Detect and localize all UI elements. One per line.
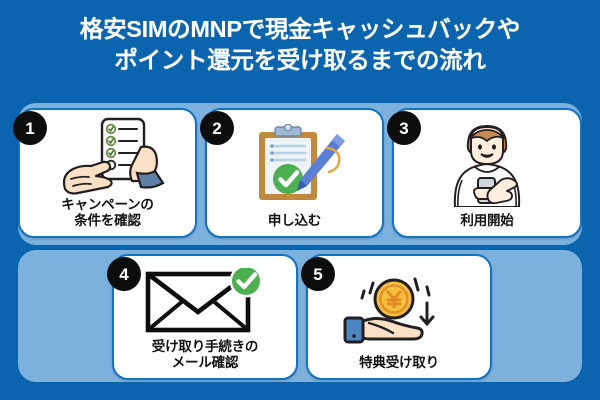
page-title-line-1: 格安SIMのMNPで現金キャッシュバックや: [0, 14, 600, 45]
step-card-1-label-line-2: 条件を確認: [61, 213, 153, 229]
step-card-1-label: キャンペーンの 条件を確認: [61, 197, 153, 229]
person-using-smartphone-icon: [394, 110, 580, 213]
step-badge-5: 5: [301, 257, 335, 291]
step-card-2-label-line-1: 申し込む: [268, 213, 321, 228]
step-card-5-label-line-1: 特典受け取り: [359, 355, 439, 370]
step-card-4-label: 受け取り手続きの メール確認: [152, 339, 258, 371]
step-card-3-label: 利用開始: [460, 213, 513, 229]
bottom-row-panel: [18, 250, 582, 382]
step-card-1-label-line-1: キャンペーンの: [61, 197, 153, 212]
step-card-2-label: 申し込む: [268, 213, 321, 229]
step-badge-2: 2: [200, 111, 234, 145]
step-card-5-label: 特典受け取り: [359, 355, 439, 371]
page-title-line-2: ポイント還元を受け取るまでの流れ: [0, 45, 600, 76]
step-card-3-label-line-1: 利用開始: [460, 213, 513, 228]
step-badge-3: 3: [387, 111, 421, 145]
page-title: 格安SIMのMNPで現金キャッシュバックや ポイント還元を受け取るまでの流れ: [0, 14, 600, 76]
step-card-4-label-line-1: 受け取り手続きの: [152, 339, 258, 354]
hand-receiving-yen-coin-icon: [308, 256, 490, 355]
envelope-check-icon: [114, 256, 296, 339]
step-badge-1: 1: [13, 111, 47, 145]
step-badge-4: 4: [107, 257, 141, 291]
step-card-4-label-line-2: メール確認: [152, 355, 258, 371]
